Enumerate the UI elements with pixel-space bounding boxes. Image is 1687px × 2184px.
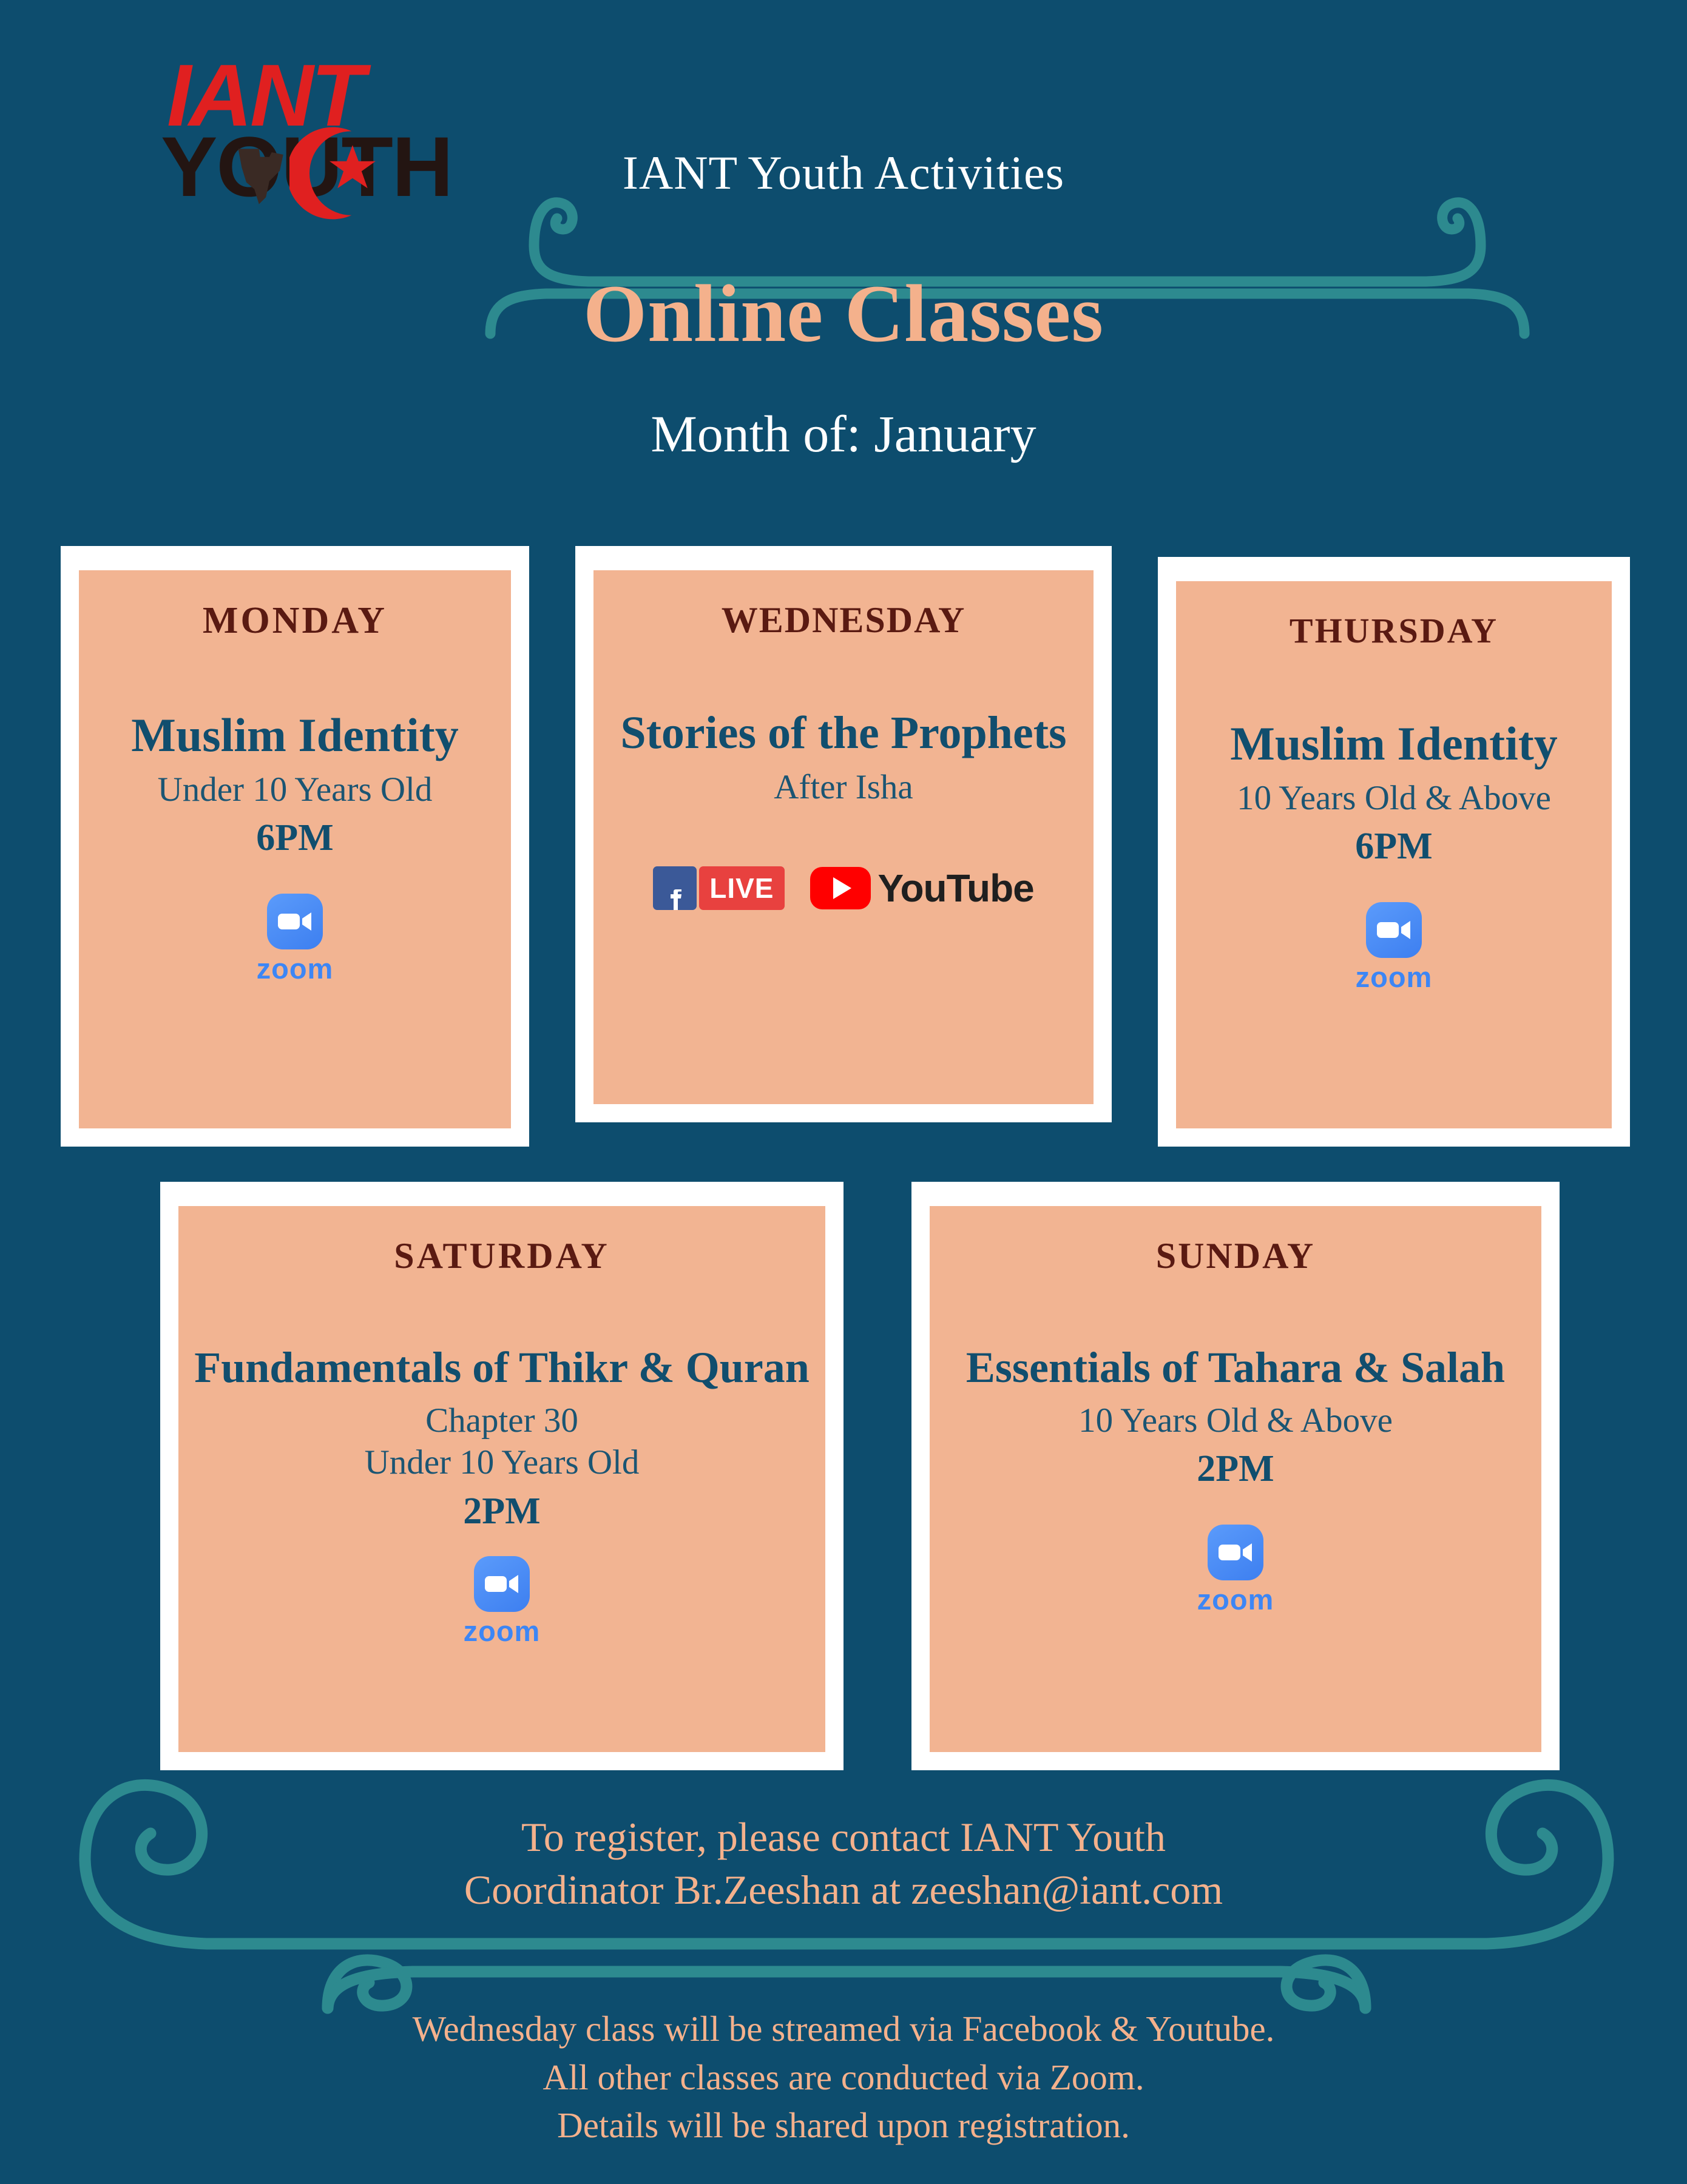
zoom-app-icon xyxy=(474,1556,530,1612)
zoom-wordmark: zoom xyxy=(1197,1585,1274,1614)
course-detail: Chapter 30 xyxy=(425,1400,578,1442)
class-card-thursday[interactable]: THURSDAY Muslim Identity 10 Years Old & … xyxy=(1158,557,1630,1147)
note-line-2: All other classes are conducted via Zoom… xyxy=(0,2054,1687,2102)
course-title: Essentials of Tahara & Salah xyxy=(966,1345,1505,1391)
register-line-2: Coordinator Br.Zeeshan at zeeshan@iant.c… xyxy=(0,1864,1687,1916)
organization-heading: IANT Youth Activities xyxy=(0,146,1687,200)
register-line-1: To register, please contact IANT Youth xyxy=(0,1811,1687,1864)
iant-youth-logo: IANT YOUTH xyxy=(161,52,525,227)
course-detail: 10 Years Old & Above xyxy=(1237,777,1551,820)
zoom-app-icon xyxy=(1208,1525,1263,1580)
facebook-live-badge: LIVE xyxy=(653,866,784,910)
course-detail: 10 Years Old & Above xyxy=(1078,1400,1393,1442)
class-card-sunday[interactable]: SUNDAY Essentials of Tahara & Salah 10 Y… xyxy=(911,1182,1560,1770)
zoom-wordmark: zoom xyxy=(1356,963,1433,991)
zoom-app-icon xyxy=(267,894,323,949)
video-camera-icon xyxy=(277,909,313,934)
day-heading: THURSDAY xyxy=(1290,610,1498,651)
course-detail: Under 10 Years Old xyxy=(158,769,433,811)
course-time: 2PM xyxy=(1197,1448,1274,1491)
note-line-3: Details will be shared upon registration… xyxy=(0,2101,1687,2150)
day-heading: SUNDAY xyxy=(1156,1235,1316,1277)
course-detail: Under 10 Years Old xyxy=(365,1441,640,1484)
day-heading: WEDNESDAY xyxy=(722,599,966,641)
play-triangle-icon xyxy=(833,877,851,899)
course-time: 2PM xyxy=(463,1490,540,1533)
zoom-wordmark: zoom xyxy=(464,1617,541,1645)
course-title: Muslim Identity xyxy=(131,710,459,760)
zoom-logo: zoom xyxy=(464,1556,541,1645)
registration-info: To register, please contact IANT Youth C… xyxy=(0,1811,1687,1916)
day-heading: MONDAY xyxy=(203,599,387,642)
streaming-notes: Wednesday class will be streamed via Fac… xyxy=(0,2005,1687,2150)
class-card-wednesday[interactable]: WEDNESDAY Stories of the Prophets After … xyxy=(575,546,1112,1122)
class-card-monday[interactable]: MONDAY Muslim Identity Under 10 Years Ol… xyxy=(61,546,529,1147)
day-heading: SATURDAY xyxy=(394,1235,609,1277)
poster-canvas: IANT YOUTH IANT Youth Activities Online … xyxy=(0,0,1687,2184)
class-card-saturday[interactable]: SATURDAY Fundamentals of Thikr & Quran C… xyxy=(160,1182,843,1770)
video-camera-icon xyxy=(1217,1540,1254,1565)
course-time: 6PM xyxy=(256,817,333,860)
zoom-logo: zoom xyxy=(257,894,334,983)
course-time: 6PM xyxy=(1355,825,1432,868)
zoom-logo: zoom xyxy=(1197,1525,1274,1614)
youtube-logo: YouTube xyxy=(810,867,1034,909)
streaming-platforms: LIVE YouTube xyxy=(653,866,1034,910)
youtube-play-icon xyxy=(810,867,871,909)
zoom-wordmark: zoom xyxy=(257,954,334,983)
video-camera-icon xyxy=(1376,918,1412,942)
page-title: Online Classes xyxy=(0,267,1687,361)
zoom-app-icon xyxy=(1366,902,1422,958)
course-title: Fundamentals of Thikr & Quran xyxy=(194,1345,810,1391)
video-camera-icon xyxy=(484,1572,520,1596)
facebook-icon xyxy=(653,866,697,910)
note-line-1: Wednesday class will be streamed via Fac… xyxy=(0,2005,1687,2054)
course-title: Stories of the Prophets xyxy=(620,709,1066,758)
live-badge: LIVE xyxy=(699,866,784,910)
course-detail: After Isha xyxy=(774,766,913,809)
zoom-logo: zoom xyxy=(1356,902,1433,991)
course-title: Muslim Identity xyxy=(1230,719,1558,769)
facebook-f-glyph xyxy=(663,883,687,910)
live-label: LIVE xyxy=(709,874,774,902)
month-subtitle: Month of: January xyxy=(0,403,1687,464)
youtube-wordmark: YouTube xyxy=(878,869,1034,908)
